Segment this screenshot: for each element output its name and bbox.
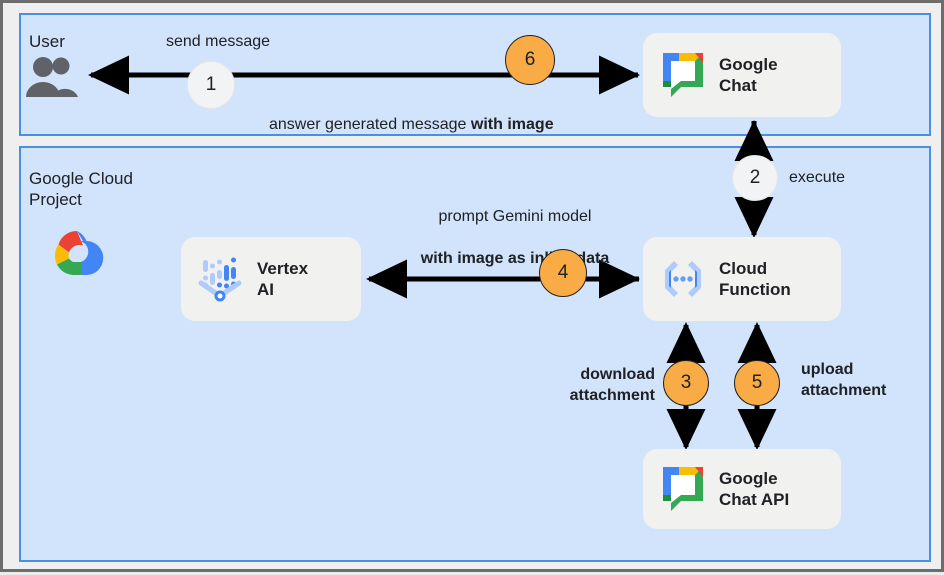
google-chat-icon (657, 463, 709, 515)
step-badge-1: 1 (187, 61, 235, 109)
edge-label-send-message: send message (166, 31, 270, 52)
node-label: Vertex AI (257, 258, 308, 300)
step-badge-4: 4 (539, 249, 587, 297)
vertex-ai-icon (195, 253, 247, 305)
google-cloud-project-title: Google Cloud Project (29, 168, 133, 210)
node-label: Cloud Function (719, 258, 791, 300)
edge-label-answer-generated: answer generated message with image (269, 93, 554, 135)
node-label: Google Chat (719, 54, 778, 96)
user-panel-title: User (29, 31, 65, 52)
step-badge-6: 6 (505, 35, 555, 85)
edge-label-download-attachment: download attachment (530, 364, 655, 406)
node-vertex-ai[interactable]: Vertex AI (181, 237, 361, 321)
node-google-chat[interactable]: Google Chat (643, 33, 841, 117)
google-chat-icon (657, 49, 709, 101)
edge-label-execute: execute (789, 167, 845, 188)
node-label: Google Chat API (719, 468, 789, 510)
step-badge-2: 2 (732, 155, 778, 201)
node-cloud-function[interactable]: Cloud Function (643, 237, 841, 321)
step-badge-5: 5 (734, 360, 780, 406)
edge-label-answer-bold: with image (471, 116, 554, 133)
cloud-function-icon (657, 253, 709, 305)
diagram-frame: User Google Cloud Project (0, 0, 944, 572)
node-google-chat-api[interactable]: Google Chat API (643, 449, 841, 529)
step-badge-3: 3 (663, 360, 709, 406)
edge-label-answer-regular: answer generated message (269, 116, 471, 133)
users-icon (25, 55, 79, 99)
edge-label-prompt-regular: prompt Gemini model (415, 206, 615, 227)
edge-label-upload-attachment: upload attachment (801, 359, 886, 401)
google-cloud-logo (37, 225, 105, 281)
